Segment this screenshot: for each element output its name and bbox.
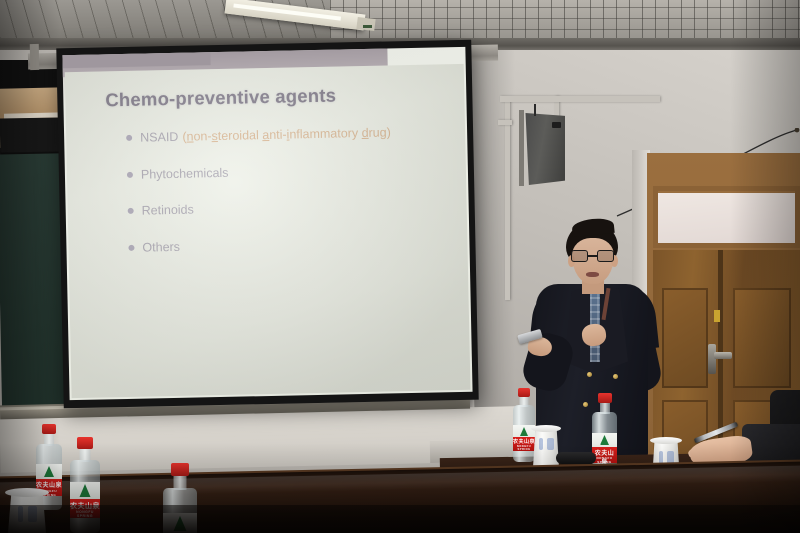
door-panel [662, 288, 708, 388]
wall-conduit-vertical [505, 100, 510, 300]
door-tag [714, 310, 720, 322]
light-fixture-end-cap [356, 17, 375, 31]
speaker-wire [534, 104, 536, 116]
glasses-bridge [588, 255, 597, 257]
vignette-bottom [0, 443, 800, 533]
speaker-bracket [519, 110, 524, 186]
presenter-mouth [586, 272, 599, 277]
slide-lighting-vignette [65, 64, 471, 398]
wall-conduit-elbow [498, 120, 512, 125]
glasses-lens-right [597, 250, 614, 262]
blazer-pocket-button [613, 374, 618, 379]
glasses-lens-left [571, 250, 588, 262]
photo-scene: Chemo-preventive agents NSAID (non-stero… [0, 0, 800, 533]
light-indicator [363, 25, 372, 28]
blazer-button [583, 402, 588, 407]
door-lock-plate [708, 344, 716, 374]
speaker-logo [552, 122, 561, 128]
blazer-button [587, 372, 592, 377]
cup-rim [531, 425, 561, 432]
projection-screen: Chemo-preventive agents NSAID (non-stero… [56, 40, 478, 409]
wall-conduit-horizontal [500, 96, 660, 102]
bottle-cap [598, 393, 612, 403]
eyeglasses-icon [570, 250, 616, 262]
bottle-cap [518, 388, 530, 397]
